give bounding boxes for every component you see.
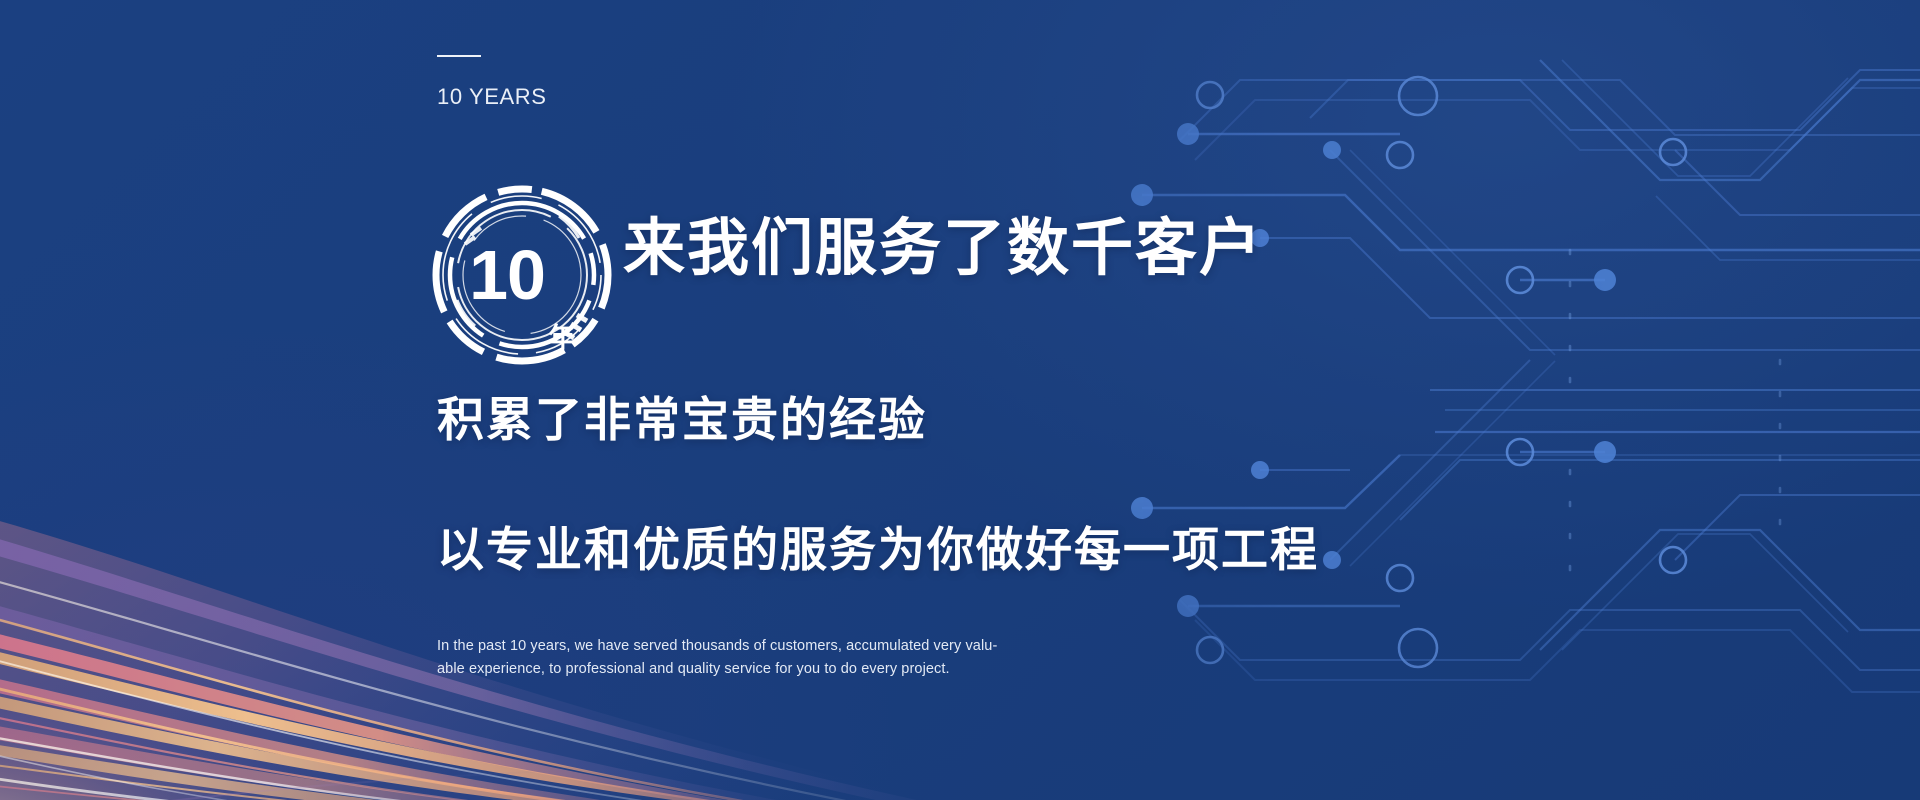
english-description: In the past 10 years, we have served tho… [437,635,967,682]
headline-secondary: 积累了非常宝贵的经验 [437,396,927,443]
badge-text-group: 10 年 [427,180,617,370]
headline-primary: 来我们服务了数千客户 [623,218,1263,280]
banner-content: 10 YEARS [437,0,1637,800]
eyebrow-rule-icon [437,55,481,57]
badge-number: 10 [469,240,545,310]
english-description-line-1: In the past 10 years, we have served tho… [437,635,967,658]
headline-tertiary: 以专业和优质的服务为你做好每一项工程 [437,526,1319,573]
eyebrow-label: 10 YEARS [437,84,547,110]
anniversary-badge: 10 年 [427,180,617,370]
badge-unit: 年 [548,325,575,352]
english-description-line-2: able experience, to professional and qua… [437,658,967,681]
hero-banner: 10 YEARS [0,0,1920,800]
